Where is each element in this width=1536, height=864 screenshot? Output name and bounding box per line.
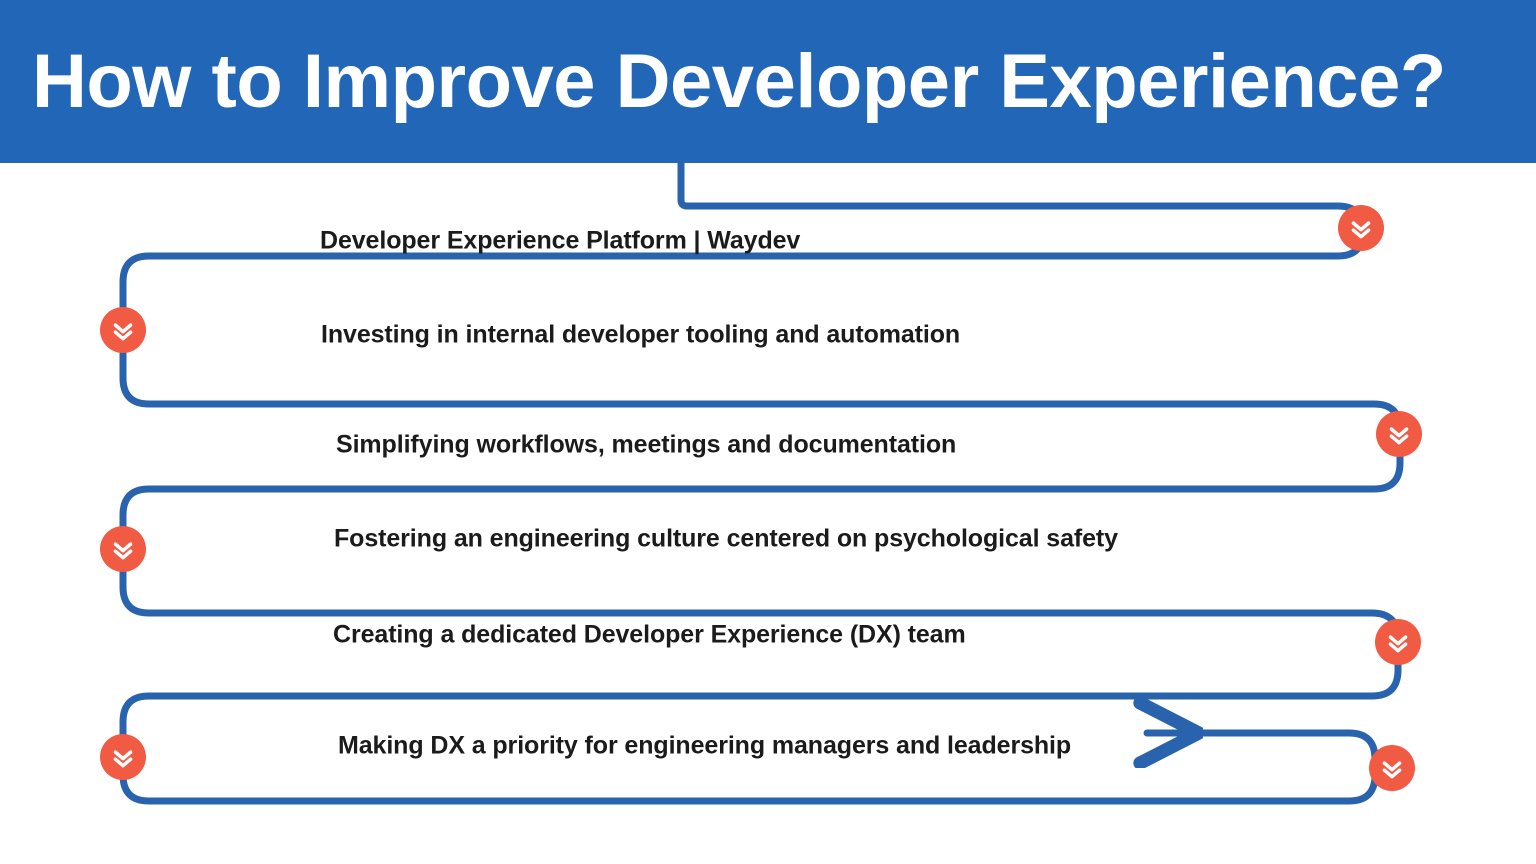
step-label-6: Making DX a priority for engineering man…: [338, 732, 1071, 760]
double-chevron-down-icon: [1369, 745, 1415, 791]
double-chevron-down-icon: [100, 307, 146, 353]
double-chevron-down-icon: [1375, 619, 1421, 665]
step-label-5: Creating a dedicated Developer Experienc…: [333, 621, 966, 649]
double-chevron-down-icon: [100, 734, 146, 780]
flow-path: [123, 163, 1400, 801]
serpentine-flow-diagram: Developer Experience Platform | Waydev I…: [0, 0, 1536, 864]
step-label-3: Simplifying workflows, meetings and docu…: [336, 431, 956, 459]
step-label-1: Developer Experience Platform | Waydev: [320, 227, 800, 255]
step-label-2: Investing in internal developer tooling …: [321, 321, 960, 349]
double-chevron-down-icon: [1338, 205, 1384, 251]
step-label-4: Fostering an engineering culture centere…: [334, 525, 1118, 553]
double-chevron-down-icon: [100, 526, 146, 572]
infographic-page: How to Improve Developer Experience? Dev…: [0, 0, 1536, 864]
double-chevron-down-icon: [1376, 411, 1422, 457]
